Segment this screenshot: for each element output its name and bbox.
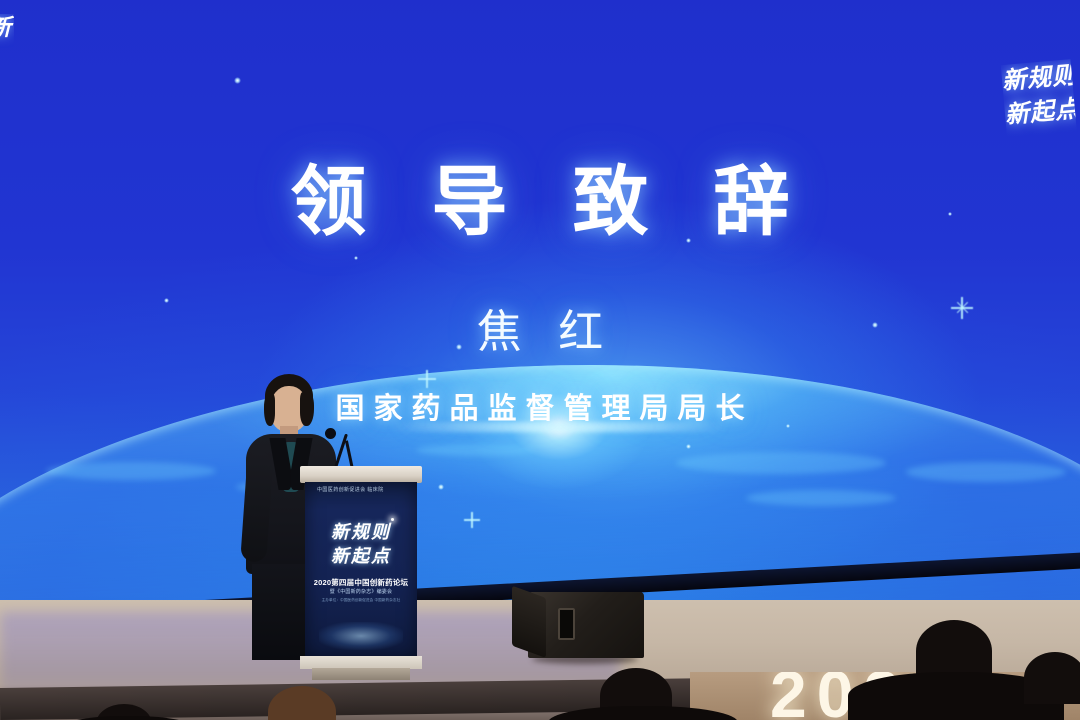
- screen-speaker-role: 国家药品监督管理局局长: [0, 385, 1080, 427]
- podium-calligraphy-line2: 新起点: [305, 544, 417, 568]
- podium-graphic-glow: [319, 622, 403, 650]
- podium-foot: [312, 668, 410, 680]
- podium-calligraphy-line1: 新规则: [305, 520, 417, 544]
- podium-banner-panel: 中国医药创新促进会 临床院 新规则 新起点 2020第四届中国创新药论坛 暨《中…: [305, 482, 417, 658]
- conference-stage-photo: 新 领 导 致 辞 焦 红 国家药品监督管理局局长 新规则 新起点 中国医药创新…: [0, 0, 1080, 720]
- person-hair-right: [300, 392, 314, 426]
- podium-top-surface: [300, 466, 422, 483]
- screen-speaker-name: 焦 红: [0, 295, 1080, 360]
- podium-event-title: 2020第四届中国创新药论坛: [305, 577, 417, 588]
- person-hair-left: [264, 394, 275, 426]
- podium-org-logo: 中国医药创新促进会 临床院: [317, 486, 407, 496]
- podium-calligraphy: 新规则 新起点: [305, 520, 417, 568]
- stage-monitor-speaker: [512, 592, 644, 662]
- audience-head: [1024, 652, 1080, 704]
- podium-event-footnote: 主办单位：中国医药创新促进会 中国新药杂志社: [305, 598, 417, 603]
- monitor-handle: [558, 608, 575, 640]
- monitor-front-face: [512, 586, 546, 658]
- podium: 中国医药创新促进会 临床院 新规则 新起点 2020第四届中国创新药论坛 暨《中…: [300, 466, 422, 680]
- podium-event-subtitle: 暨《中国新药杂志》编委会: [305, 588, 417, 595]
- screen-title: 领 导 致 辞: [0, 140, 1080, 250]
- screen-corner-logo: 新规则 新起点: [1001, 59, 1078, 143]
- screen-edge-logo: 新: [0, 14, 14, 66]
- corner-logo-line2: 新起点: [1004, 93, 1077, 133]
- microphone-icon: [325, 428, 336, 439]
